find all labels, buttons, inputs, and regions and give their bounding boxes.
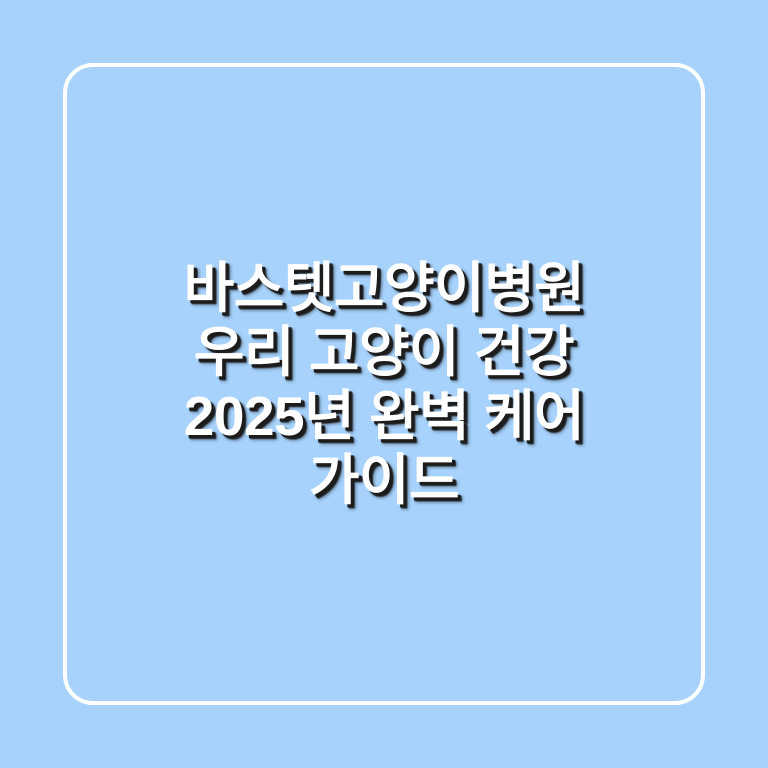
poster-canvas: 바스텟고양이병원 우리 고양이 건강 2025년 완벽 케어 가이드 <box>0 0 768 768</box>
headline-line-3: 2025년 완벽 케어 <box>70 384 698 448</box>
headline-line-2: 우리 고양이 건강 <box>70 320 698 384</box>
headline-line-1: 바스텟고양이병원 <box>70 256 698 320</box>
headline-block: 바스텟고양이병원 우리 고양이 건강 2025년 완벽 케어 가이드 <box>0 0 768 768</box>
headline-line-4: 가이드 <box>70 448 698 512</box>
